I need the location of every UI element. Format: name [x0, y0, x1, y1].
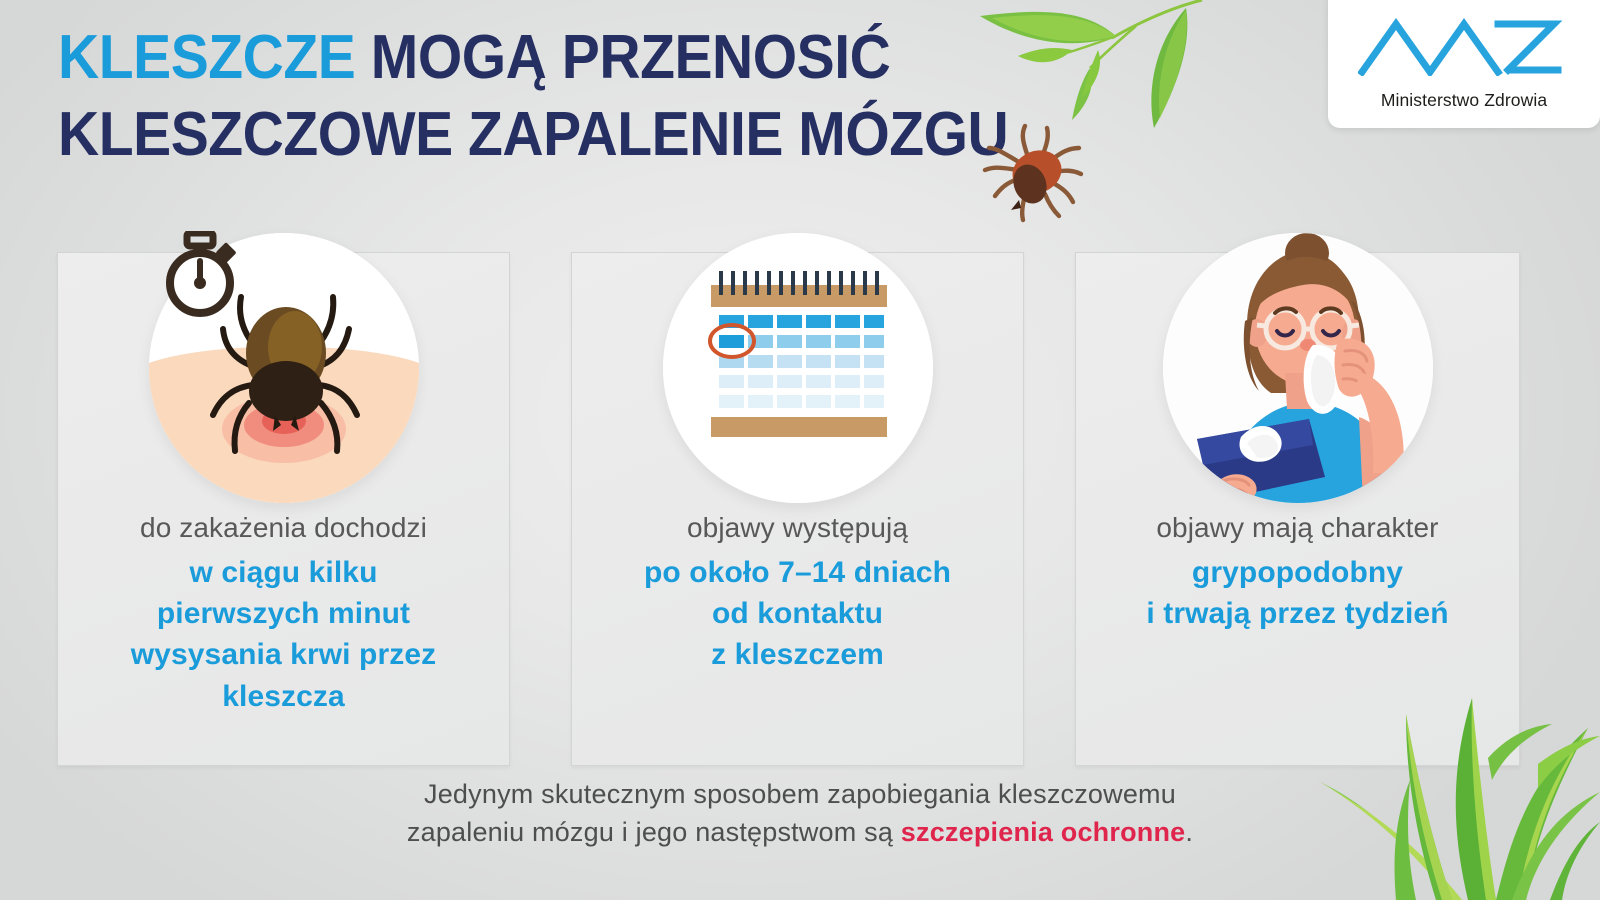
footer-emphasis: szczepienia ochronne	[901, 817, 1186, 847]
caption-top: do zakażenia dochodzi	[68, 508, 499, 549]
fact-card-symptom-character: objawy mają charakter grypopodobnyi trwa…	[1075, 252, 1520, 766]
card-caption: do zakażenia dochodzi w ciągu kilkupierw…	[58, 508, 509, 717]
ministry-logo-label: Ministerstwo Zdrowia	[1328, 90, 1600, 111]
sick-woman-with-tissue-icon	[1163, 233, 1433, 503]
fact-card-infection-time: do zakażenia dochodzi w ciągu kilkupierw…	[57, 252, 510, 766]
title-highlight: KLESZCZE	[58, 23, 355, 92]
footer-line-2-after: .	[1185, 817, 1193, 847]
footer-line-2: zapaleniu mózgu i jego następstwom są sz…	[0, 813, 1600, 851]
stopwatch-icon	[157, 231, 243, 319]
fact-card-symptom-onset: objawy występują po około 7–14 dniachod …	[571, 252, 1024, 766]
infographic-canvas: KLESZCZE MOGĄ PRZENOSIĆ KLESZCZOWE ZAPAL…	[0, 0, 1600, 900]
footer-line-1: Jedynym skutecznym sposobem zapobiegania…	[0, 775, 1600, 813]
calendar-icon	[663, 233, 933, 503]
fact-cards: do zakażenia dochodzi w ciągu kilkupierw…	[0, 252, 1600, 766]
caption-main: w ciągu kilkupierwszych minutwysysania k…	[68, 552, 499, 718]
caption-main: po około 7–14 dniachod kontaktuz kleszcz…	[582, 552, 1013, 676]
caption-top: objawy występują	[582, 508, 1013, 549]
title-rest: MOGĄ PRZENOSIĆ	[371, 23, 891, 92]
page-title: KLESZCZE MOGĄ PRZENOSIĆ KLESZCZOWE ZAPAL…	[58, 26, 904, 166]
mz-zigzag-mark	[1358, 16, 1570, 76]
ministry-logo: Ministerstwo Zdrowia	[1328, 0, 1600, 128]
caption-top: objawy mają charakter	[1086, 508, 1509, 549]
tick-bite-on-skin-icon	[149, 233, 419, 503]
card-caption: objawy występują po około 7–14 dniachod …	[572, 508, 1023, 676]
title-line-2: KLESZCZOWE ZAPALENIE MÓZGU	[58, 103, 904, 166]
card-caption: objawy mają charakter grypopodobnyi trwa…	[1076, 508, 1519, 634]
caption-main: grypopodobnyi trwają przez tydzień	[1086, 552, 1509, 635]
footer-line-2-before: zapaleniu mózgu i jego następstwom są	[407, 817, 901, 847]
footer-note: Jedynym skutecznym sposobem zapobiegania…	[0, 775, 1600, 852]
